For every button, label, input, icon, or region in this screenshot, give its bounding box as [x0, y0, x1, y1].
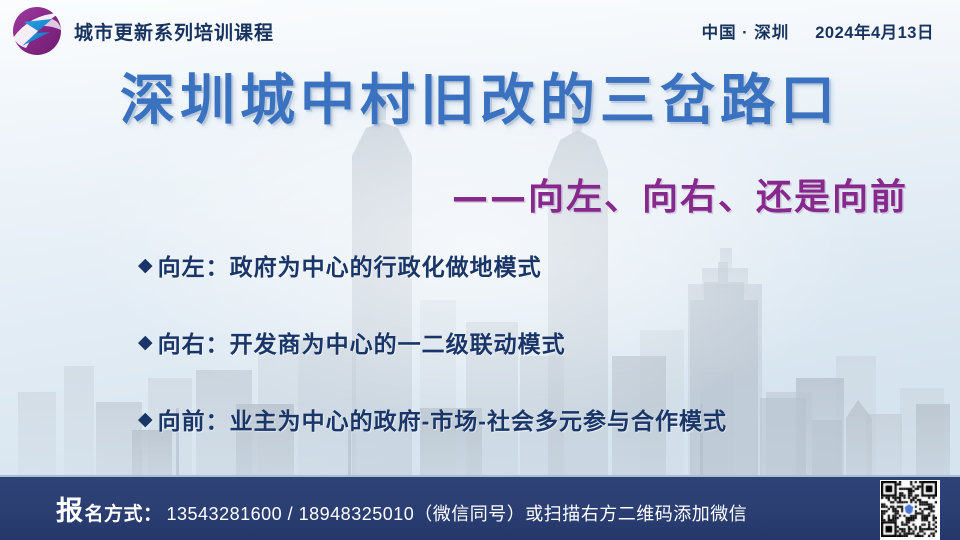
bullet-item-3: ◆ 向前：业主为中心的政府-市场-社会多元参与合作模式: [138, 402, 727, 436]
bullet-item-1: ◆ 向左：政府为中心的行政化做地模式: [138, 248, 727, 282]
wechat-qr-code[interactable]: [880, 480, 940, 540]
diamond-icon: ◆: [138, 256, 154, 275]
bullet-text-3: 向前：业主为中心的政府-市场-社会多元参与合作模式: [158, 402, 727, 436]
date-label: 2024年4月13日: [815, 19, 934, 43]
slide-canvas: 城市更新系列培训课程 中国 · 深圳 2024年4月13日 深圳城中村旧改的三岔…: [0, 0, 960, 540]
bullet-text-1: 向左：政府为中心的行政化做地模式: [158, 248, 542, 282]
diamond-icon: ◆: [138, 410, 154, 429]
registration-label-mid: 名方式：: [85, 499, 163, 526]
registration-label-big: 报: [56, 489, 84, 528]
header-meta: 中国 · 深圳 2024年4月13日: [702, 19, 934, 43]
header-bar: 城市更新系列培训课程 中国 · 深圳 2024年4月13日: [0, 0, 960, 62]
location-label: 中国 · 深圳: [702, 19, 790, 43]
brand-title: 城市更新系列培训课程: [74, 18, 274, 45]
bullet-text-2: 向右：开发商为中心的一二级联动模式: [158, 325, 566, 359]
bullet-item-2: ◆ 向右：开发商为中心的一二级联动模式: [138, 325, 727, 359]
footer-bar: 报 名方式： 13543281600 / 18948325010（微信同号）或扫…: [0, 475, 960, 540]
zl-circle-logo: [8, 4, 66, 58]
bullet-list: ◆ 向左：政府为中心的行政化做地模式 ◆ 向右：开发商为中心的一二级联动模式 ◆…: [138, 248, 727, 436]
subtitle: ——向左、向右、还是向前: [452, 168, 908, 220]
registration-info: 报 名方式： 13543281600 / 18948325010（微信同号）或扫…: [56, 489, 747, 528]
registration-contact: 13543281600 / 18948325010（微信同号）或扫描右方二维码添…: [167, 500, 748, 526]
main-title: 深圳城中村旧改的三岔路口: [0, 72, 960, 130]
diamond-icon: ◆: [138, 333, 154, 352]
